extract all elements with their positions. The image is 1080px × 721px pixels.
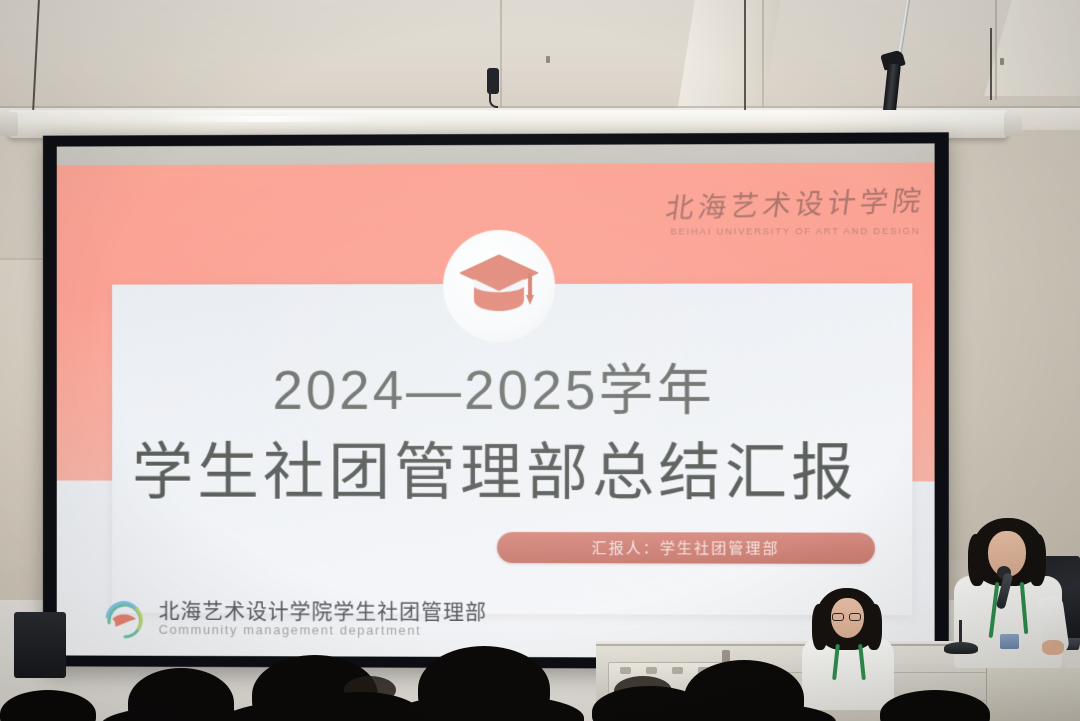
eyeglasses-icon: [849, 613, 861, 621]
brand-name-en: Community management department: [159, 623, 487, 638]
telephone-cord: [489, 92, 498, 108]
presenter-hair-side: [968, 534, 986, 586]
presenter-hair-side: [1028, 534, 1046, 586]
control-knob[interactable]: [620, 667, 631, 674]
wall-mark: [1000, 58, 1004, 65]
presenter-label: 汇报人：学生社团管理部: [497, 532, 875, 564]
presentation-slide: 北海艺术设计学院 BEIHAI UNIVERSITY OF ART AND DE…: [57, 143, 935, 658]
ceiling-beam: [677, 0, 781, 112]
university-logo: 北海艺术设计学院 BEIHAI UNIVERSITY OF ART AND DE…: [660, 183, 930, 240]
control-knob[interactable]: [646, 667, 657, 674]
eyeglasses-icon: [832, 613, 844, 621]
ceiling-seam: [500, 0, 502, 112]
presenter-badge: [1000, 634, 1019, 649]
roller-end-cap: [1004, 112, 1022, 136]
slide-brand-footer: 北海艺术设计学院学生社团管理部 Community management dep…: [103, 599, 487, 640]
projector-screen: 北海艺术设计学院 BEIHAI UNIVERSITY OF ART AND DE…: [43, 132, 949, 669]
side-cabinet: [986, 668, 1080, 721]
slide-title-line-2: 学生社团管理部总结汇报: [57, 422, 935, 513]
ceiling-cable: [990, 28, 992, 100]
lecture-room-photo: 北海艺术设计学院 BEIHAI UNIVERSITY OF ART AND DE…: [0, 0, 1080, 721]
wall-left-panel: [0, 260, 44, 620]
roller-highlight: [150, 116, 380, 122]
ceiling: [0, 0, 1080, 118]
brand-name-cn: 北海艺术设计学院学生社团管理部: [159, 601, 487, 624]
wall-right-section: [930, 130, 1080, 560]
seated-staff-hair-side: [812, 604, 828, 650]
wall-mark: [546, 56, 550, 63]
ceiling-cable: [744, 0, 746, 110]
wall-telephone-icon: [487, 68, 499, 94]
university-logo-en: BEIHAI UNIVERSITY OF ART AND DESIGN: [660, 226, 930, 238]
ceiling-seam: [995, 0, 997, 100]
university-logo-cn: 北海艺术设计学院: [657, 179, 934, 227]
roller-end-cap: [0, 112, 18, 136]
presenter-banner: 汇报人：学生社团管理部: [497, 532, 875, 564]
desk-microphone-base: [944, 642, 978, 654]
swoosh-logo-icon: [103, 599, 147, 639]
slide-title-line-1: 2024—2025学年: [57, 345, 935, 425]
control-knob[interactable]: [672, 667, 683, 674]
ceiling-seam: [762, 0, 764, 112]
presenter-hand: [1042, 640, 1064, 655]
graduation-cap-icon: [458, 251, 540, 317]
seated-staff-hair-side: [866, 604, 882, 650]
chair: [14, 612, 66, 678]
